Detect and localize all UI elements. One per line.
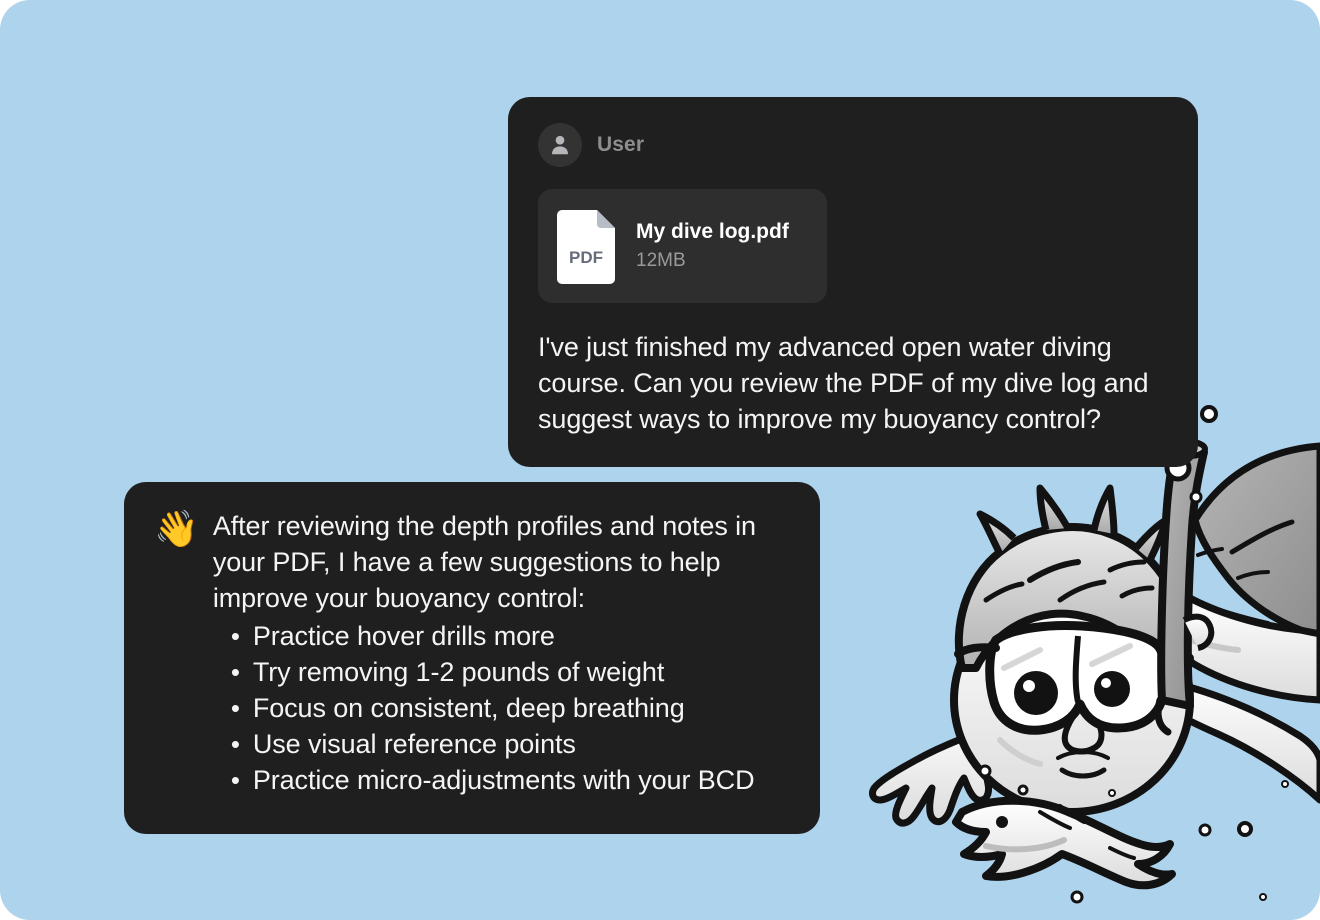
file-meta: My dive log.pdf 12MB (636, 220, 789, 272)
list-item: Focus on consistent, deep breathing (213, 690, 790, 726)
chat-scene: User PDF My dive log.pdf 12MB I've just … (0, 0, 1320, 920)
sender-name: User (597, 133, 644, 157)
file-name: My dive log.pdf (636, 220, 789, 244)
list-item: Use visual reference points (213, 726, 790, 762)
user-message-bubble: User PDF My dive log.pdf 12MB I've just … (508, 97, 1198, 467)
person-icon (547, 132, 573, 158)
list-item: Practice hover drills more (213, 618, 790, 654)
assistant-message-bubble: 👋 After reviewing the depth profiles and… (124, 482, 820, 834)
pdf-file-icon: PDF (556, 207, 618, 285)
file-size: 12MB (636, 250, 789, 272)
avatar (538, 123, 582, 167)
pdf-icon-label: PDF (569, 248, 603, 267)
list-item: Try removing 1-2 pounds of weight (213, 654, 790, 690)
assistant-message-body: After reviewing the depth profiles and n… (213, 508, 790, 798)
waving-hand-emoji: 👋 (154, 510, 199, 798)
file-attachment-card[interactable]: PDF My dive log.pdf 12MB (538, 189, 827, 303)
user-message-text: I've just finished my advanced open wate… (538, 329, 1168, 437)
chat-messages: User PDF My dive log.pdf 12MB I've just … (0, 0, 1320, 920)
assistant-intro-text: After reviewing the depth profiles and n… (213, 508, 790, 616)
suggestion-list: Practice hover drills more Try removing … (213, 618, 790, 798)
user-message-header: User (538, 123, 1168, 167)
list-item: Practice micro-adjustments with your BCD (213, 762, 790, 798)
